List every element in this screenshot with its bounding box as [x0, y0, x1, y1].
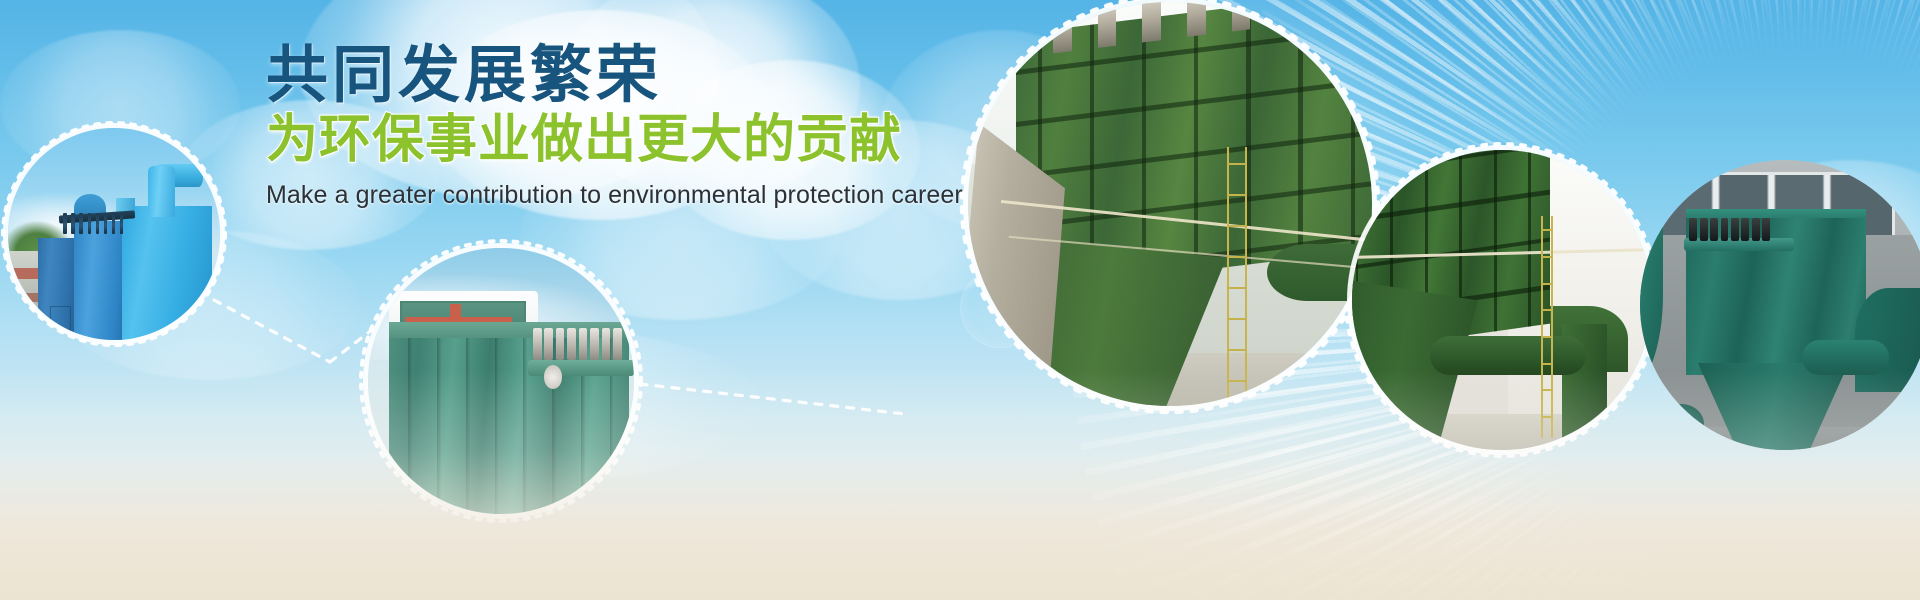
photo-valve-row — [63, 213, 131, 234]
green-baghouse-collector-photo — [368, 248, 634, 514]
photo-duct-horizontal — [1430, 336, 1586, 375]
connector-mid-up — [330, 330, 372, 362]
blue-dust-collector-photo — [8, 128, 220, 340]
photo-collector-panel — [74, 221, 125, 340]
green-hopper-collector-photo — [968, 2, 1372, 406]
photo-valve-row — [533, 328, 629, 360]
photo-content — [968, 2, 1372, 406]
photo-content — [1352, 150, 1652, 450]
promotional-banner: 共同发展繁荣 为环保事业做出更大的贡献 Make a greater contr… — [0, 0, 1920, 600]
photo-duct-riser — [148, 166, 176, 217]
connector-mid-to-right — [640, 384, 905, 414]
photo-fan-housing — [1657, 404, 1703, 445]
photo-access-door — [50, 306, 71, 340]
photo-access-ladder — [1541, 216, 1553, 438]
banner-text-block: 共同发展繁荣 为环保事业做出更大的贡献 Make a greater contr… — [266, 44, 966, 210]
photo-inspection-disc — [544, 365, 563, 389]
photo-access-ladder — [1227, 147, 1247, 406]
teal-plantroom-collector-photo — [1640, 160, 1920, 450]
green-indoor-collector-photo — [1352, 150, 1652, 450]
headline-primary: 共同发展繁荣 — [266, 44, 966, 107]
banner-subtitle: Make a greater contribution to environme… — [266, 180, 966, 210]
photo-valve-row — [1689, 218, 1776, 241]
connector-left-to-mid — [214, 300, 330, 362]
photo-collector-body — [122, 206, 211, 340]
photo-content — [8, 128, 220, 340]
photo-content — [1640, 160, 1920, 450]
photo-duct-horizontal — [1802, 340, 1889, 375]
headline-secondary: 为环保事业做出更大的贡献 — [266, 113, 966, 168]
photo-content — [368, 248, 634, 514]
